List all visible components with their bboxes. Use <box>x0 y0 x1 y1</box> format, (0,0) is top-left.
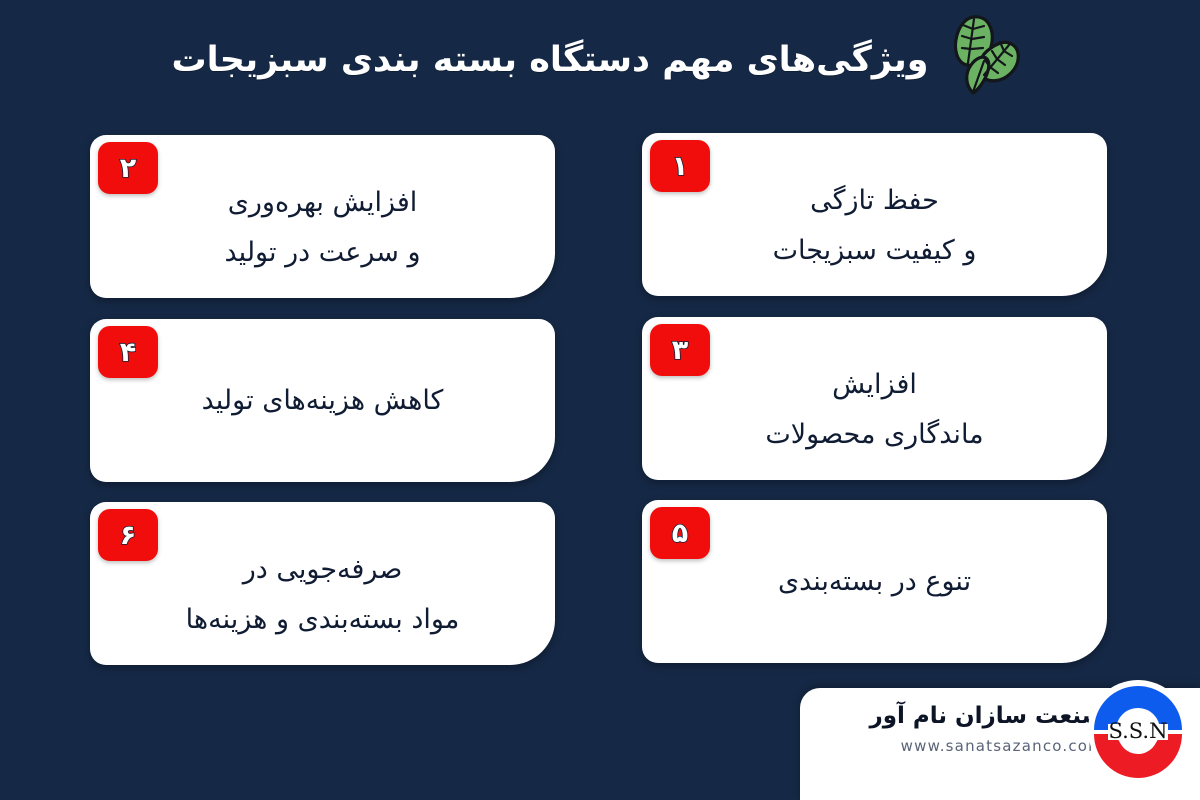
feature-card-1[interactable]: ۱ حفظ تازگی و کیفیت سبزیجات <box>642 133 1107 296</box>
page-title: ویژگی‌های مهم دستگاه بسته بندی سبزیجات <box>171 39 928 81</box>
feature-text-6: صرفه‌جویی در مواد بسته‌بندی و هزینه‌ها <box>90 502 555 665</box>
brand-name: صنعت سازان نام آور <box>869 702 1104 731</box>
feature-card-2[interactable]: ۲ افزایش بهره‌وری و سرعت در تولید <box>90 135 555 298</box>
brand-website[interactable]: www.sanatsazanco.com <box>869 737 1104 755</box>
page-header: ویژگی‌های مهم دستگاه بسته بندی سبزیجات <box>0 0 1200 120</box>
feature-card-4[interactable]: ۴ کاهش هزینه‌های تولید <box>90 319 555 482</box>
feature-text-line: ماندگاری محصولات <box>765 418 983 452</box>
leaf-icon <box>943 9 1029 101</box>
feature-text-line: و سرعت در تولید <box>225 236 421 270</box>
features-grid: ۱ حفظ تازگی و کیفیت سبزیجات ۲ افزایش بهر… <box>90 133 1107 663</box>
feature-text-5: تنوع در بسته‌بندی <box>642 500 1107 663</box>
brand-footer: صنعت سازان نام آور www.sanatsazanco.com … <box>800 688 1200 800</box>
feature-text-line: مواد بسته‌بندی و هزینه‌ها <box>186 603 460 637</box>
feature-text-line: افزایش <box>832 368 917 402</box>
feature-card-3[interactable]: ۳ افزایش ماندگاری محصولات <box>642 317 1107 480</box>
feature-text-line: افزایش بهره‌وری <box>228 186 418 220</box>
feature-text-line: صرفه‌جویی در <box>243 553 403 587</box>
ssn-logo-text: S.S.N <box>1108 719 1167 743</box>
feature-card-5[interactable]: ۵ تنوع در بسته‌بندی <box>642 500 1107 663</box>
ssn-logo-icon: S.S.N <box>1086 678 1190 782</box>
feature-text-line: و کیفیت سبزیجات <box>773 234 977 268</box>
feature-text-line: کاهش هزینه‌های تولید <box>202 384 444 418</box>
feature-text-line: تنوع در بسته‌بندی <box>778 565 971 599</box>
feature-text-2: افزایش بهره‌وری و سرعت در تولید <box>90 135 555 298</box>
brand-text: صنعت سازان نام آور www.sanatsazanco.com <box>869 702 1104 755</box>
feature-text-3: افزایش ماندگاری محصولات <box>642 317 1107 480</box>
feature-text-1: حفظ تازگی و کیفیت سبزیجات <box>642 133 1107 296</box>
feature-text-4: کاهش هزینه‌های تولید <box>90 319 555 482</box>
feature-card-6[interactable]: ۶ صرفه‌جویی در مواد بسته‌بندی و هزینه‌ها <box>90 502 555 665</box>
feature-text-line: حفظ تازگی <box>810 184 939 218</box>
